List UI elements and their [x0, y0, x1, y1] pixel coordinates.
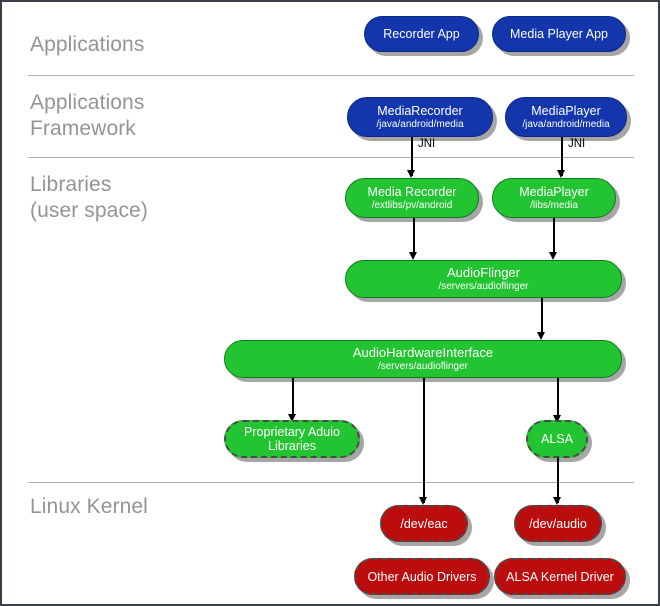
node-media-recorder-framework-path: /java/android/media	[376, 119, 463, 130]
node-media-player-app-title: Media Player App	[510, 27, 608, 41]
arrowhead-jni-right	[557, 170, 565, 178]
section-label-applications-framework: Applications Framework	[30, 90, 144, 142]
node-media-recorder-framework-title: MediaRecorder	[377, 104, 462, 118]
node-proprietary-audio-libraries-title: Proprietary Aduio	[244, 425, 340, 439]
separator-applications	[28, 75, 634, 76]
arrowhead-jni-left	[407, 170, 415, 178]
node-audio-hardware-interface-path: /servers/audioflinger	[378, 361, 468, 372]
node-dev-eac[interactable]: /dev/eac	[380, 505, 468, 542]
node-media-recorder-framework[interactable]: MediaRecorder /java/android/media	[347, 97, 493, 137]
node-audio-flinger[interactable]: AudioFlinger /servers/audioflinger	[345, 260, 622, 298]
separator-framework	[28, 157, 634, 158]
node-audio-flinger-path: /servers/audioflinger	[438, 281, 528, 292]
section-label-linux-kernel: Linux Kernel	[30, 494, 148, 520]
node-media-recorder-library-title: Media Recorder	[368, 185, 457, 199]
node-dev-audio-title: /dev/audio	[529, 517, 587, 531]
connector-media-recorder-to-audioflinger	[413, 218, 415, 252]
node-recorder-app[interactable]: Recorder App	[364, 16, 479, 52]
node-other-audio-drivers-title: Other Audio Drivers	[367, 570, 476, 584]
node-media-recorder-library[interactable]: Media Recorder /extlibs/pv/android	[345, 178, 479, 218]
connector-label-jni-left: JNI	[418, 138, 435, 150]
arrowhead-media-recorder-to-audioflinger	[409, 252, 417, 260]
connector-ahi-to-proprietary-libs	[292, 378, 294, 416]
section-label-libraries: Libraries (user space)	[30, 172, 148, 224]
connector-media-player-to-audioflinger	[553, 218, 555, 252]
node-media-player-app[interactable]: Media Player App	[492, 16, 626, 52]
node-alsa-title: ALSA	[541, 432, 573, 446]
connector-ahi-to-alsa	[557, 378, 559, 418]
node-media-recorder-library-path: /extlibs/pv/android	[372, 200, 453, 211]
node-dev-eac-title: /dev/eac	[400, 517, 447, 531]
node-dev-audio[interactable]: /dev/audio	[514, 505, 602, 542]
arrowhead-ahi-to-dev-eac	[419, 497, 427, 505]
arrowhead-media-player-to-audioflinger	[549, 252, 557, 260]
node-alsa[interactable]: ALSA	[526, 420, 588, 458]
connector-ahi-to-dev-eac	[423, 378, 425, 503]
node-alsa-kernel-driver[interactable]: ALSA Kernel Driver	[494, 558, 626, 595]
node-media-player-library-title: MediaPlayer	[519, 185, 588, 199]
node-audio-flinger-title: AudioFlinger	[447, 266, 520, 281]
node-media-player-library-path: /libs/media	[530, 200, 578, 211]
separator-kernel	[28, 482, 634, 483]
node-proprietary-audio-libraries-subtitle: Libraries	[268, 439, 316, 453]
node-media-player-library[interactable]: MediaPlayer /libs/media	[492, 178, 616, 218]
node-media-player-framework-path: /java/android/media	[522, 119, 609, 130]
node-media-player-framework[interactable]: MediaPlayer /java/android/media	[505, 97, 627, 137]
node-audio-hardware-interface[interactable]: AudioHardwareInterface /servers/audiofli…	[224, 340, 622, 378]
node-proprietary-audio-libraries[interactable]: Proprietary Aduio Libraries	[224, 420, 360, 458]
node-recorder-app-title: Recorder App	[383, 27, 459, 41]
connector-label-jni-right: JNI	[568, 138, 585, 150]
node-audio-hardware-interface-title: AudioHardwareInterface	[353, 346, 493, 361]
node-alsa-kernel-driver-title: ALSA Kernel Driver	[506, 570, 614, 584]
arrowhead-alsa-to-dev-audio	[553, 497, 561, 505]
architecture-diagram: Applications Applications Framework Libr…	[0, 0, 660, 606]
node-media-player-framework-title: MediaPlayer	[531, 104, 600, 118]
arrowhead-audioflinger-to-audiohardwareinterface	[537, 332, 545, 340]
connector-audioflinger-to-audiohardwareinterface	[541, 298, 543, 332]
section-label-applications: Applications	[30, 32, 144, 58]
node-other-audio-drivers[interactable]: Other Audio Drivers	[354, 558, 490, 595]
